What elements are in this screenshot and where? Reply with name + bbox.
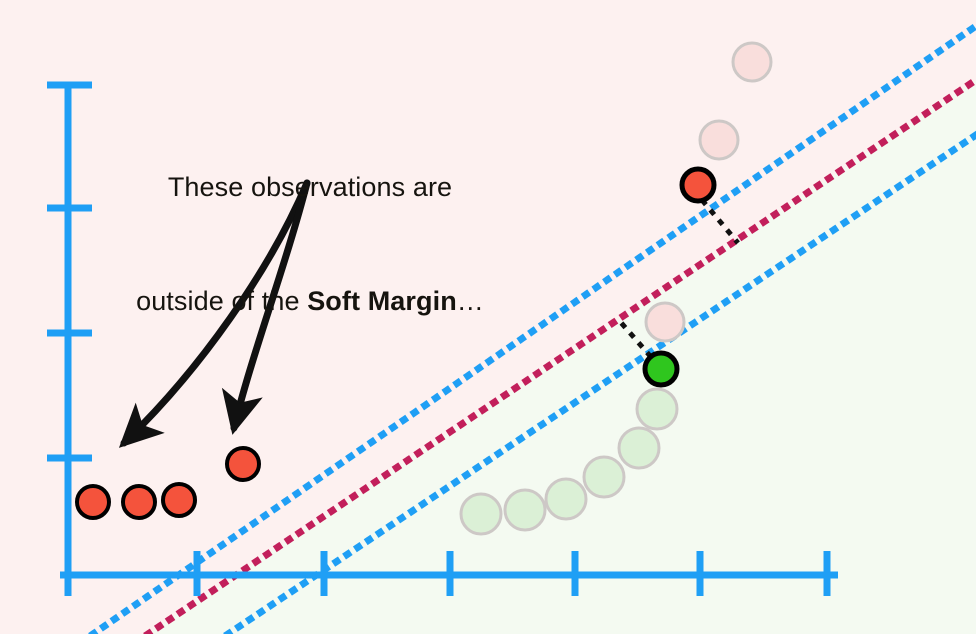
red-observation-point <box>123 486 155 518</box>
annotation-line-1: These observations are <box>60 168 560 206</box>
faded-green-point <box>619 428 659 468</box>
faded-green-point <box>637 389 677 429</box>
faded-green-point <box>584 457 624 497</box>
faded-green-point <box>546 479 586 519</box>
red-observation-point <box>682 169 714 201</box>
red-observation-point <box>77 486 109 518</box>
annotation-line-2-prefix: outside of the <box>136 286 307 316</box>
figure-canvas: These observations are outside of the So… <box>0 0 976 634</box>
red-observation-point <box>163 484 195 516</box>
green-observation-point <box>645 353 677 385</box>
annotation-line-2-suffix: … <box>457 286 484 316</box>
annotation-caption: These observations are outside of the So… <box>60 92 560 396</box>
annotation-soft-margin-term: Soft Margin <box>307 286 457 316</box>
annotation-line-2: outside of the Soft Margin… <box>60 282 560 320</box>
faded-red-point <box>646 303 684 341</box>
faded-green-point <box>461 494 501 534</box>
red-observation-point <box>227 448 259 480</box>
faded-red-point <box>733 43 771 81</box>
faded-green-point <box>505 490 545 530</box>
faded-red-point <box>700 121 738 159</box>
